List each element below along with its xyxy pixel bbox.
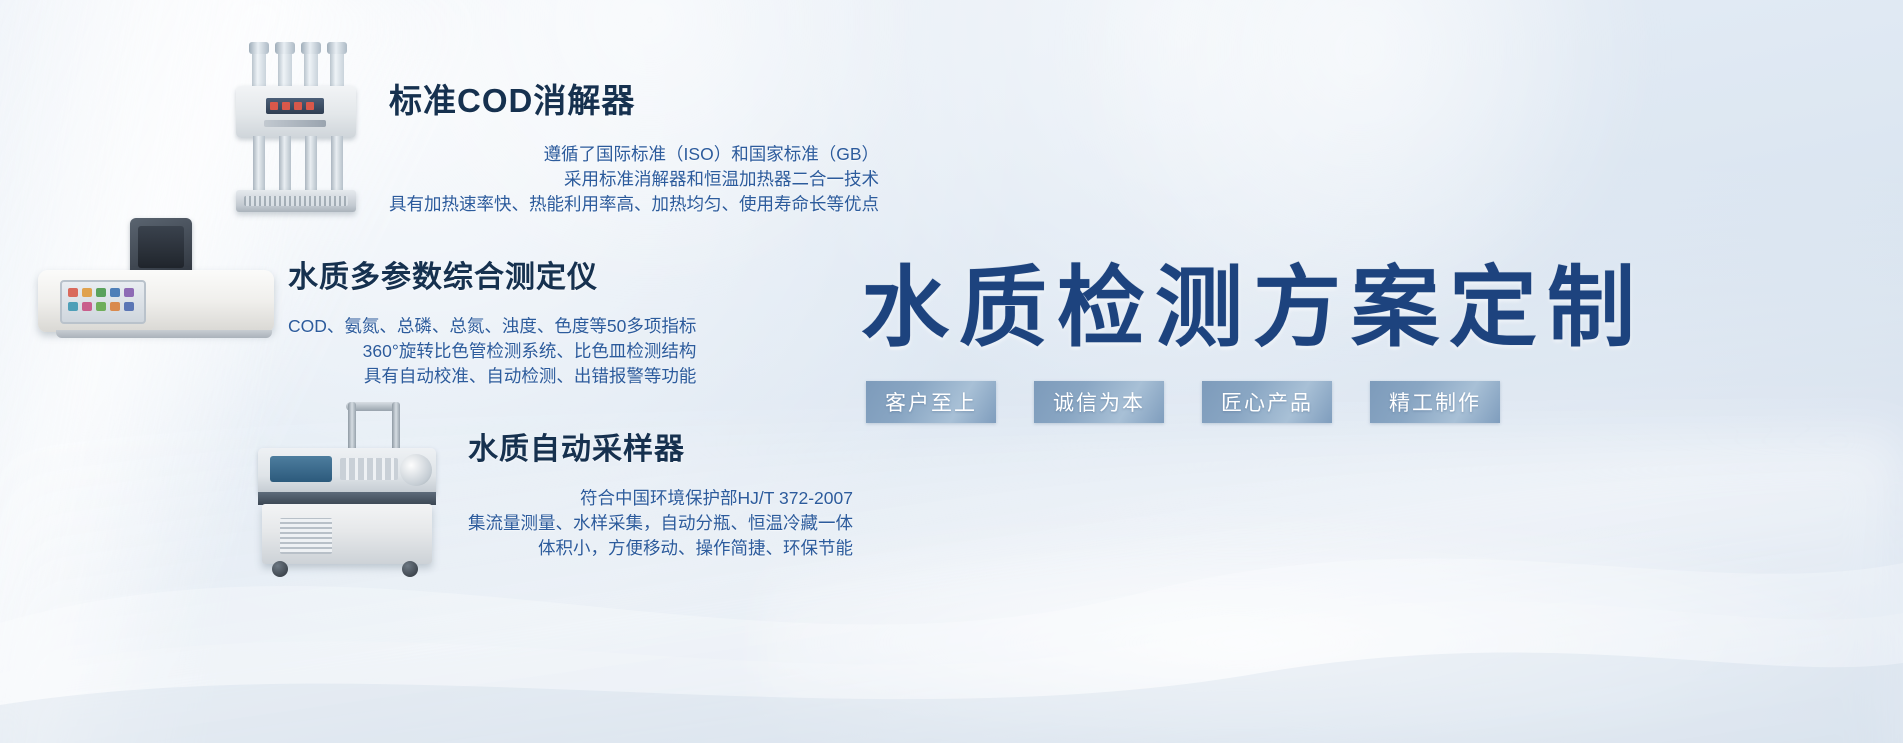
water-auto-sampler-icon bbox=[250, 402, 440, 577]
slogan-badge-customer-first[interactable]: 客户至上 bbox=[866, 381, 996, 423]
product-description-line: 集流量测量、水样采集，自动分瓶、恒温冷藏一体 bbox=[468, 511, 853, 536]
product-description-line: 遵循了国际标准（ISO）和国家标准（GB） bbox=[389, 142, 879, 167]
product-description: 符合中国环境保护部HJ/T 372-2007 集流量测量、水样采集，自动分瓶、恒… bbox=[468, 486, 853, 561]
product-title: 水质多参数综合测定仪 bbox=[288, 252, 696, 296]
promo-banner: 标准COD消解器 遵循了国际标准（ISO）和国家标准（GB） 采用标准消解器和恒… bbox=[0, 0, 1903, 743]
slogan-badge-list: 客户至上 诚信为本 匠心产品 精工制作 bbox=[866, 381, 1500, 423]
banner-headline: 水质检测方案定制 bbox=[861, 237, 1645, 364]
product-block-water-auto-sampler: 水质自动采样器 符合中国环境保护部HJ/T 372-2007 集流量测量、水样采… bbox=[468, 424, 853, 561]
slogan-badge-fine-manufacturing[interactable]: 精工制作 bbox=[1370, 381, 1500, 423]
cod-digester-icon bbox=[236, 48, 356, 213]
product-description-line: 采用标准消解器和恒温加热器二合一技术 bbox=[389, 167, 879, 192]
slogan-badge-integrity[interactable]: 诚信为本 bbox=[1034, 381, 1164, 423]
bottom-glow-decoration bbox=[760, 503, 1903, 743]
product-description-line: 符合中国环境保护部HJ/T 372-2007 bbox=[468, 486, 853, 511]
product-description-line: 360°旋转比色管检测系统、比色皿检测结构 bbox=[288, 339, 696, 364]
multi-parameter-analyzer-icon bbox=[30, 218, 280, 338]
product-description: COD、氨氮、总磷、总氮、浊度、色度等50多项指标 360°旋转比色管检测系统、… bbox=[288, 314, 696, 389]
product-block-cod-digester: 标准COD消解器 遵循了国际标准（ISO）和国家标准（GB） 采用标准消解器和恒… bbox=[389, 74, 879, 217]
product-description-line: 具有加热速率快、热能利用率高、加热均匀、使用寿命长等优点 bbox=[389, 192, 879, 217]
product-description-line: 体积小，方便移动、操作简捷、环保节能 bbox=[468, 536, 853, 561]
product-description: 遵循了国际标准（ISO）和国家标准（GB） 采用标准消解器和恒温加热器二合一技术… bbox=[389, 142, 879, 217]
product-block-multi-parameter-analyzer: 水质多参数综合测定仪 COD、氨氮、总磷、总氮、浊度、色度等50多项指标 360… bbox=[288, 252, 696, 389]
product-title: 标准COD消解器 bbox=[389, 74, 879, 122]
product-description-line: 具有自动校准、自动检测、出错报警等功能 bbox=[288, 364, 696, 389]
slogan-badge-craftsmanship[interactable]: 匠心产品 bbox=[1202, 381, 1332, 423]
product-description-line: COD、氨氮、总磷、总氮、浊度、色度等50多项指标 bbox=[288, 314, 696, 339]
product-title: 水质自动采样器 bbox=[468, 424, 853, 468]
